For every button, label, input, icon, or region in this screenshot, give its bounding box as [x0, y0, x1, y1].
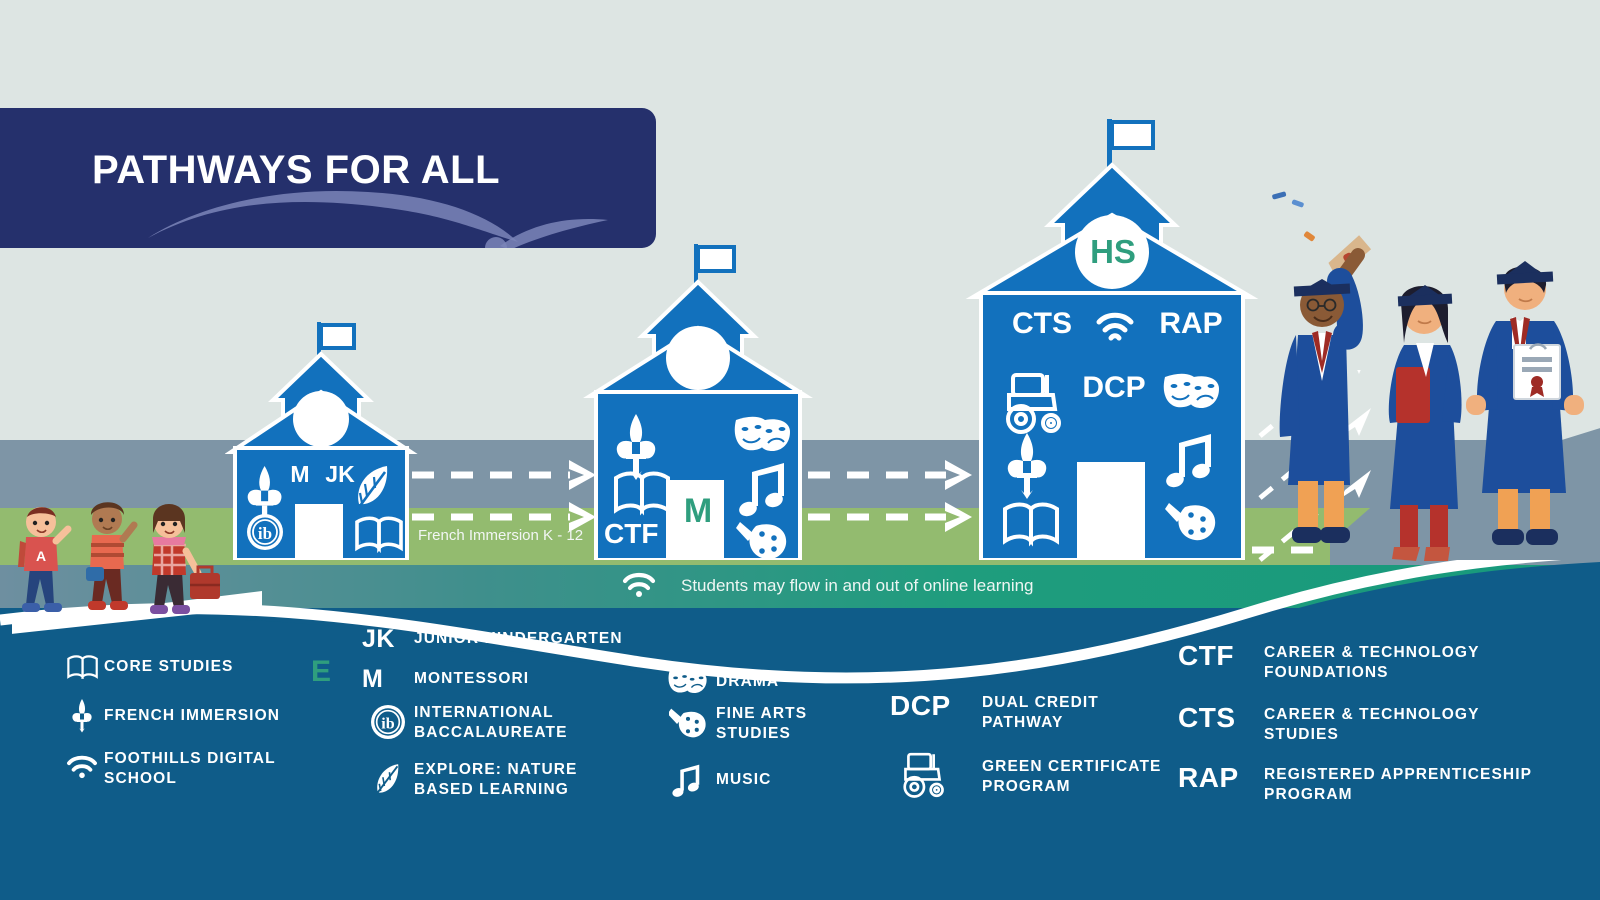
child-girl-suitcase — [150, 504, 220, 614]
legend-item-cts[interactable]: CTS CAREER & TECHNOLOGY STUDIES — [1178, 702, 1578, 746]
legend-item-french-immersion[interactable]: FRENCH IMMERSION — [60, 699, 360, 733]
wifi-icon — [60, 749, 104, 779]
legend-item-international-baccalaureate[interactable]: ib INTERNATIONAL BACCALAUREATE — [362, 703, 662, 744]
school-label-elementary-m: M — [283, 461, 317, 488]
legend-item-dual-credit-pathway[interactable]: DCP DUAL CREDIT PATHWAY — [890, 690, 1170, 734]
legend-abbr: JK — [362, 625, 414, 654]
child-boy-waving: A — [18, 507, 68, 612]
school-label-middle-ctf: CTF — [604, 518, 682, 550]
legend-label: EXPLORE: NATURE BASED LEARNING — [414, 760, 614, 801]
legend-item-explore-nature-based-learning[interactable]: EXPLORE: NATURE BASED LEARNING — [362, 760, 662, 801]
music-note-icon — [660, 762, 716, 798]
graduates-group — [1240, 185, 1600, 570]
legend-abbr: RAP — [1178, 762, 1264, 794]
legend-item-music[interactable]: MUSIC — [660, 762, 890, 798]
legend-item-green-certificate-program[interactable]: GREEN CERTIFICATE PROGRAM — [890, 752, 1170, 798]
school-label-hs-cts: CTS — [997, 307, 1087, 341]
drama-masks-icon — [660, 668, 716, 696]
french-immersion-label: French Immersion K - 12 — [418, 527, 583, 544]
confetti — [1272, 191, 1316, 242]
legend-abbr: DCP — [890, 690, 982, 722]
legend-label: DRAMA — [716, 672, 779, 692]
online-learning-label: Students may flow in and out of online l… — [681, 576, 1034, 596]
school-label-hs-rap: RAP — [1143, 307, 1239, 341]
legend-label: FRENCH IMMERSION — [104, 706, 280, 726]
book-icon — [60, 655, 104, 679]
legend-label: JUNIOR KINDERGARTEN — [414, 629, 623, 649]
leaf-icon — [362, 760, 414, 794]
legend-label: DUAL CREDIT PATHWAY — [982, 690, 1142, 734]
wifi-icon — [622, 570, 656, 598]
legend-label: CAREER & TECHNOLOGY FOUNDATIONS — [1264, 640, 1504, 684]
legend-label: GREEN CERTIFICATE PROGRAM — [982, 752, 1167, 798]
paint-palette-icon — [660, 704, 716, 742]
legend-item-core-studies[interactable]: CORE STUDIES — [60, 655, 360, 679]
school-middle[interactable]: M CTF — [582, 240, 814, 560]
legend-item-foothills-digital-school[interactable]: FOOTHILLS DIGITAL SCHOOL — [60, 749, 360, 790]
legend-item-fine-arts-studies[interactable]: FINE ARTS STUDIES — [660, 704, 890, 745]
school-label-hs-dcp: DCP — [1065, 371, 1163, 405]
graduate-holding-book — [1389, 285, 1462, 561]
svg-text:ib: ib — [381, 716, 394, 733]
legend-abbr: M — [362, 665, 414, 694]
school-badge-highschool: HS — [1075, 233, 1151, 271]
legend-abbr: CTF — [1178, 640, 1264, 672]
title-banner: PATHWAYS FOR ALL — [0, 108, 656, 248]
school-highschool[interactable]: HS CTS RAP DCP — [965, 115, 1260, 560]
children-group: A — [12, 495, 262, 635]
ib-icon: ib — [362, 703, 414, 739]
drama-masks-icon — [735, 417, 790, 451]
svg-text:A: A — [36, 548, 46, 564]
legend-label: MUSIC — [716, 770, 771, 790]
school-label-elementary-jk: JK — [318, 461, 362, 488]
legend-item-ctf[interactable]: CTF CAREER & TECHNOLOGY FOUNDATIONS — [1178, 640, 1578, 684]
child-boy-walking — [86, 502, 134, 610]
legend-label: INTERNATIONAL BACCALAUREATE — [414, 703, 634, 744]
page-title: PATHWAYS FOR ALL — [92, 148, 500, 193]
legend-item-montessori[interactable]: M MONTESSORI — [362, 665, 662, 694]
tractor-icon — [890, 752, 982, 798]
drama-masks-icon — [1164, 374, 1219, 408]
fleur-de-lis-icon — [60, 699, 104, 733]
legend-label: CORE STUDIES — [104, 657, 233, 677]
legend-label: MONTESSORI — [414, 669, 529, 689]
legend-item-drama[interactable]: DRAMA — [660, 668, 890, 696]
legend-abbr: CTS — [1178, 702, 1264, 734]
legend-item-rap[interactable]: RAP REGISTERED APPRENTICESHIP PROGRAM — [1178, 762, 1578, 806]
infographic-canvas: PATHWAYS FOR ALL — [0, 0, 1600, 900]
swoosh-decoration — [138, 190, 618, 248]
legend-label: CAREER & TECHNOLOGY STUDIES — [1264, 702, 1504, 746]
graduate-holding-diploma-up — [1280, 233, 1376, 543]
graduate-holding-certificate — [1466, 261, 1584, 545]
legend-label: FINE ARTS STUDIES — [716, 704, 846, 745]
legend-label: REGISTERED APPRENTICESHIP PROGRAM — [1264, 762, 1554, 806]
legend-label: FOOTHILLS DIGITAL SCHOOL — [104, 749, 314, 790]
legend-item-junior-kindergarten[interactable]: JK JUNIOR KINDERGARTEN — [362, 625, 662, 654]
